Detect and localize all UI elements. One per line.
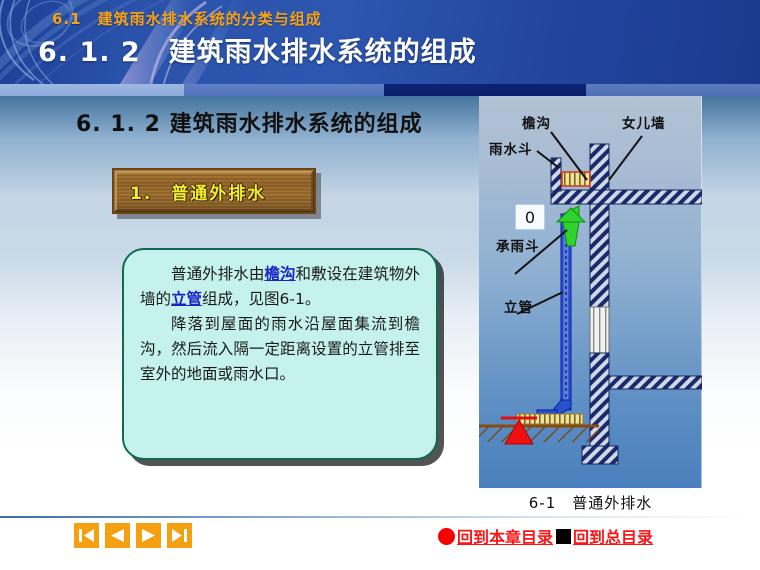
next-slide-button[interactable] <box>136 523 161 548</box>
band-segment-2 <box>184 84 384 96</box>
slide-canvas: 6.1 建筑雨水排水系统的分类与组成 6. 1. 2 建筑雨水排水系统的组成 6… <box>0 0 760 570</box>
first-slide-button[interactable] <box>74 523 99 548</box>
black-square-bullet-icon <box>556 529 571 544</box>
link-gutter[interactable]: 檐沟 <box>264 265 295 283</box>
link-chapter-toc[interactable]: 回到本章目录 <box>457 524 553 548</box>
band-segment-1 <box>0 84 184 96</box>
link-downpipe[interactable]: 立管 <box>171 290 202 308</box>
diagram-panel: 0 檐沟 女儿墙 雨水斗 承雨斗 立管 <box>479 96 702 488</box>
previous-slide-button[interactable] <box>105 523 130 548</box>
callout-p1-pre: 普通外排水由 <box>171 265 264 283</box>
breadcrumb: 6.1 建筑雨水排水系统的分类与组成 <box>52 8 322 29</box>
diagram-label-downpipe: 立管 <box>504 296 533 316</box>
diagram-label-parapet-wall: 女儿墙 <box>622 112 666 132</box>
footer-bar <box>0 553 760 570</box>
red-circle-bullet-icon <box>438 528 455 545</box>
diagram-label-rain-inlet: 雨水斗 <box>489 138 533 158</box>
slide-header: 6.1 建筑雨水排水系统的分类与组成 6. 1. 2 建筑雨水排水系统的组成 <box>0 0 760 84</box>
page-title: 6. 1. 2 建筑雨水排水系统的组成 <box>38 30 477 69</box>
band-segment-4 <box>586 84 760 96</box>
diagram-label-rain-receiver: 承雨斗 <box>496 235 540 255</box>
footer-links: 回到本章目录 回到总目录 <box>438 524 653 548</box>
link-main-toc[interactable]: 回到总目录 <box>573 524 653 548</box>
section-heading: 6. 1. 2 建筑雨水排水系统的组成 <box>76 106 423 138</box>
diagram-caption: 6-1 普通外排水 <box>479 490 702 514</box>
callout-paragraph-2: 降落到屋面的雨水沿屋面集流到檐沟，然后流入隔一定距离设置的立管排至室外的地面或雨… <box>140 312 420 387</box>
callout-paragraph-1: 普通外排水由檐沟和敷设在建筑物外墙的立管组成，见图6-1。 <box>140 262 420 312</box>
slide-nav-buttons <box>74 523 192 548</box>
callout-textbox: 普通外排水由檐沟和敷设在建筑物外墙的立管组成，见图6-1。 降落到屋面的雨水沿屋… <box>122 248 438 460</box>
last-slide-button[interactable] <box>167 523 192 548</box>
wood-plaque: 1. 普通外排水 <box>112 168 316 214</box>
band-segment-3 <box>384 84 586 96</box>
diagram-label-gutter: 檐沟 <box>522 112 551 132</box>
plaque-label: 1. 普通外排水 <box>112 168 316 214</box>
header-color-band <box>0 84 760 96</box>
footer-divider <box>0 516 760 518</box>
diagram-marker-value: 0 <box>525 208 535 227</box>
callout-p1-post: 组成，见图6-1。 <box>202 290 320 308</box>
